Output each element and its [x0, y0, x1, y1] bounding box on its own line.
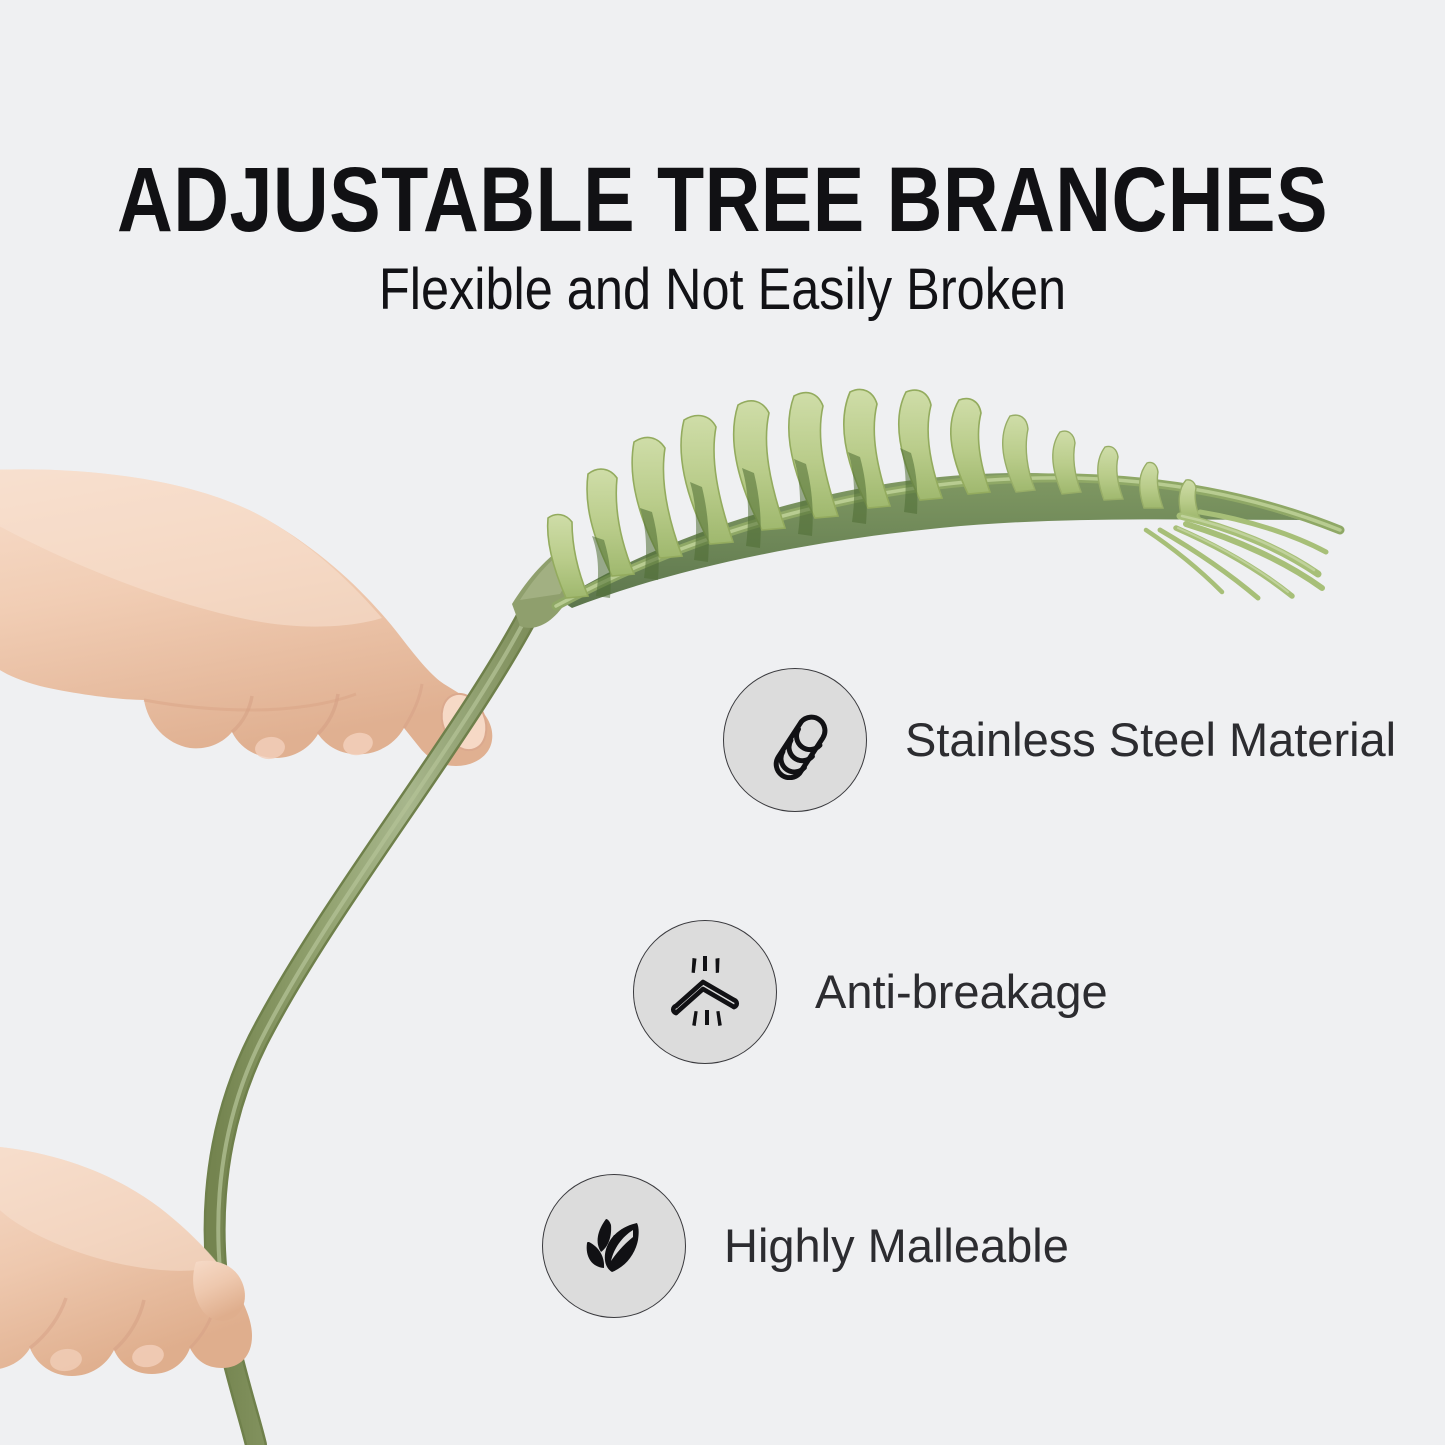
infographic-canvas: ADJUSTABLE TREE BRANCHES Flexible and No…: [0, 0, 1445, 1445]
bent-rod-icon: [663, 950, 747, 1034]
feature-badge: [723, 668, 867, 812]
steel-rod-icon: [755, 700, 835, 780]
feature-label: Anti-breakage: [815, 966, 1108, 1018]
feature-item-highly-malleable: Highly Malleable: [542, 1174, 1069, 1318]
feature-item-anti-breakage: Anti-breakage: [633, 920, 1108, 1064]
feature-badge: [633, 920, 777, 1064]
palm-frond: [548, 389, 1340, 608]
product-stem: [215, 544, 576, 1445]
upper-hand: [0, 469, 494, 766]
feature-item-stainless-steel: Stainless Steel Material: [723, 668, 1396, 812]
feature-label: Highly Malleable: [724, 1220, 1069, 1272]
feature-badge: [542, 1174, 686, 1318]
page-title: ADJUSTABLE TREE BRANCHES: [116, 152, 1330, 248]
page-subtitle: Flexible and Not Easily Broken: [94, 258, 1351, 322]
lower-hand: [0, 1146, 252, 1376]
feature-label: Stainless Steel Material: [905, 714, 1396, 766]
leaves-icon: [575, 1207, 653, 1285]
